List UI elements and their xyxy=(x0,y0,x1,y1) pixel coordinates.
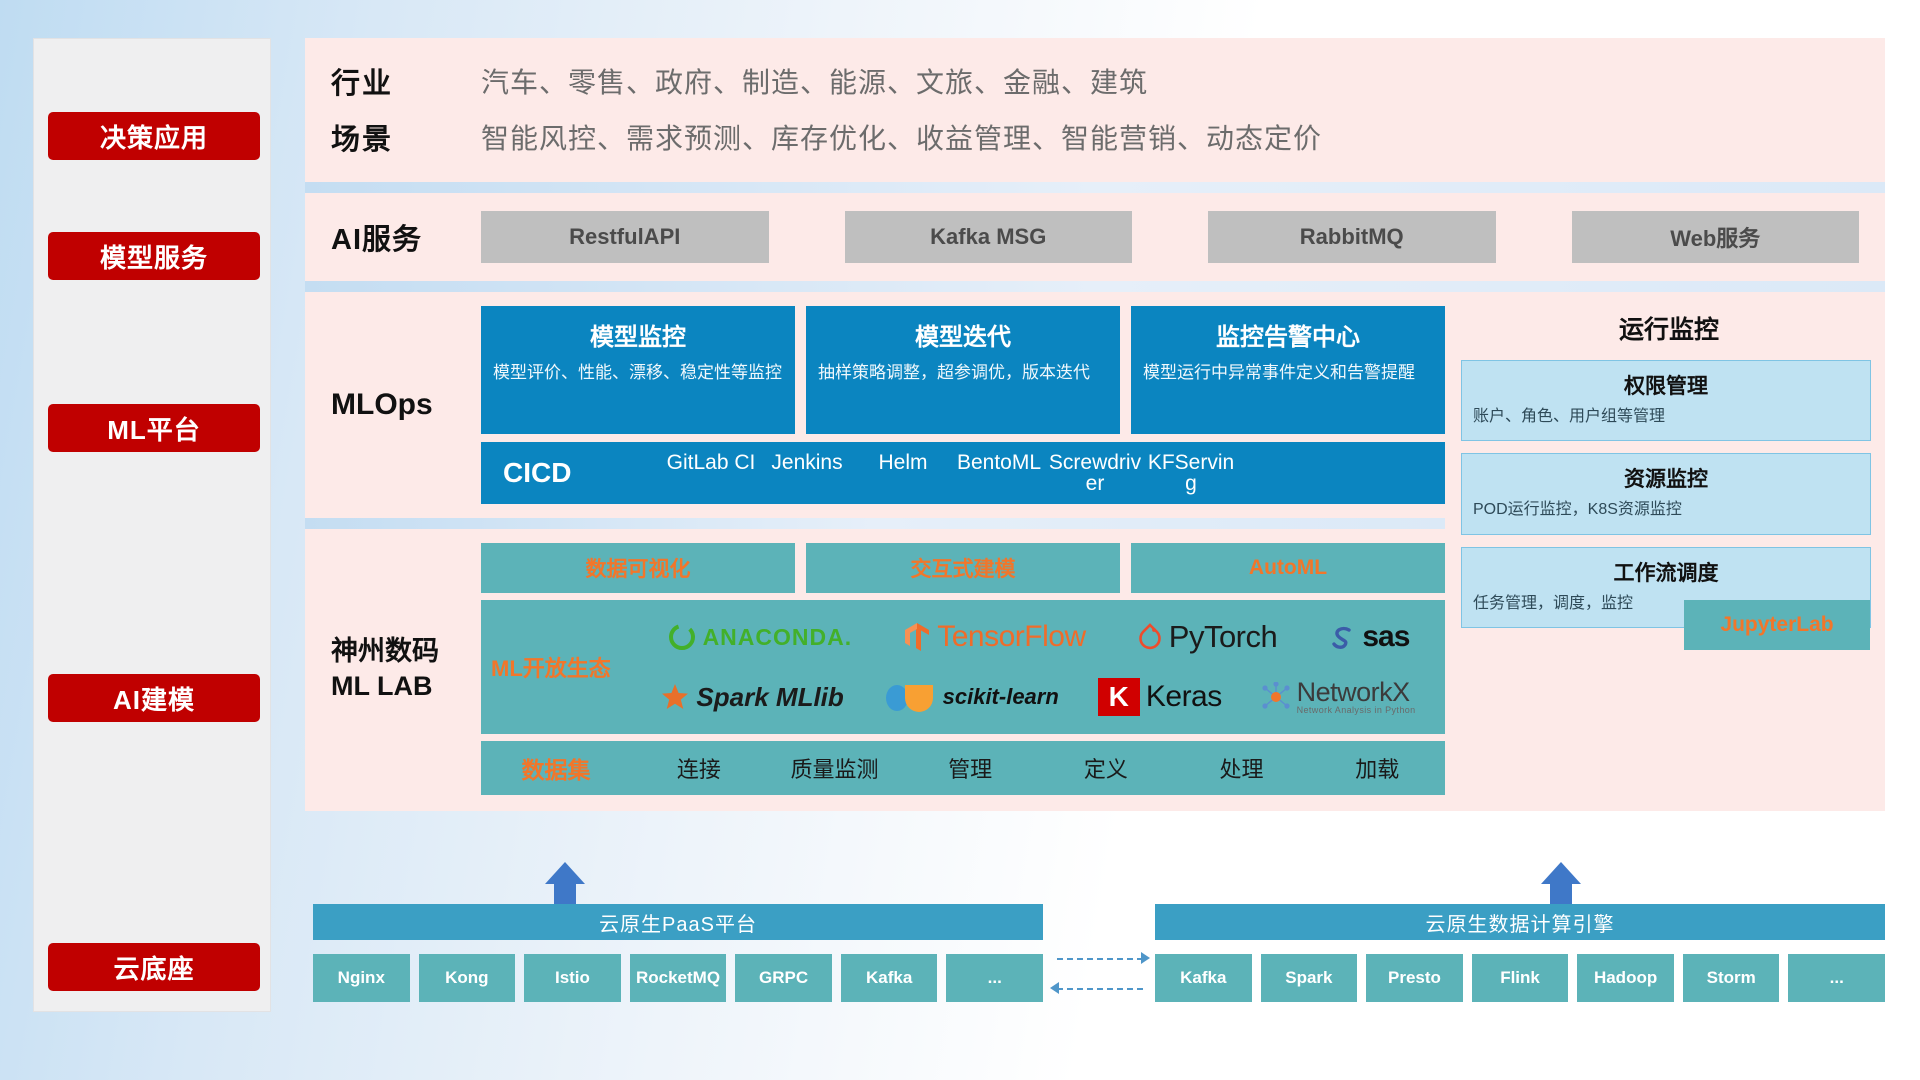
ml-lab-band: 神州数码 ML LAB 数据可视化 交互式建模 AutoML ML开放生态 xyxy=(305,529,1445,811)
dataset-label: 数据集 xyxy=(481,751,631,785)
cicd-item-helm[interactable]: Helm xyxy=(855,452,951,494)
data-engine-chip-kafka[interactable]: Kafka xyxy=(1155,954,1252,1002)
dashed-arrow-right xyxy=(1141,952,1150,964)
monitor-card-permission[interactable]: 权限管理 账户、角色、用户组等管理 xyxy=(1461,360,1871,441)
data-engine-chip-more[interactable]: ... xyxy=(1788,954,1885,1002)
networkx-logo: NetworkX Network Analysis in Python xyxy=(1261,679,1416,715)
dataset-item-management[interactable]: 管理 xyxy=(902,752,1038,784)
spark-wordmark: Spark MLlib xyxy=(696,682,843,713)
card-desc: POD运行监控，K8S资源监控 xyxy=(1473,499,1859,521)
card-desc: 模型评价、性能、漂移、稳定性等监控 xyxy=(493,361,783,386)
dataset-item-group: 连接 质量监测 管理 定义 处理 加载 xyxy=(631,752,1445,784)
dataset-bar: 数据集 连接 质量监测 管理 定义 处理 加载 xyxy=(481,741,1445,795)
pytorch-icon xyxy=(1137,622,1163,652)
ai-service-chip-kafka-msg[interactable]: Kafka MSG xyxy=(845,211,1133,263)
monitor-rail-title: 运行监控 xyxy=(1453,292,1885,360)
card-title: 工作流调度 xyxy=(1473,557,1859,587)
architecture-diagram: 决策应用 模型服务 ML平台 AI建模 云底座 行业 汽车、零售、政府、制造、能… xyxy=(0,0,1920,1080)
main-column: 行业 汽车、零售、政府、制造、能源、文旅、金融、建筑 场景 智能风控、需求预测、… xyxy=(305,38,1885,811)
anaconda-wordmark: ANACONDA. xyxy=(703,624,853,651)
dataset-item-connect[interactable]: 连接 xyxy=(631,752,767,784)
anaconda-icon xyxy=(667,622,697,652)
dataset-item-processing[interactable]: 处理 xyxy=(1174,752,1310,784)
cloud-infrastructure-band: 云原生PaaS平台 Nginx Kong Istio RocketMQ GRPC… xyxy=(305,862,1885,1020)
ai-service-chip-rabbitmq[interactable]: RabbitMQ xyxy=(1208,211,1496,263)
platform-left: MLOps 模型监控 模型评价、性能、漂移、稳定性等监控 模型迭代 抽样策略调整… xyxy=(305,292,1445,811)
data-engine-chip-storm[interactable]: Storm xyxy=(1683,954,1780,1002)
cicd-item-jenkins[interactable]: Jenkins xyxy=(759,452,855,494)
mlops-card-group: 模型监控 模型评价、性能、漂移、稳定性等监控 模型迭代 抽样策略调整，超参调优，… xyxy=(481,306,1445,434)
cicd-bar: CICD GitLab CI Jenkins Helm BentoML Scre… xyxy=(481,442,1445,504)
keras-logo: K Keras xyxy=(1098,678,1222,716)
dataset-item-definition[interactable]: 定义 xyxy=(1038,752,1174,784)
paas-chip-rocketmq[interactable]: RocketMQ xyxy=(630,954,727,1002)
card-title: 资源监控 xyxy=(1473,463,1859,493)
lab-tool-interactive-modeling[interactable]: 交互式建模 xyxy=(806,543,1120,593)
pytorch-logo: PyTorch xyxy=(1137,619,1277,655)
data-engine-chip-hadoop[interactable]: Hadoop xyxy=(1577,954,1674,1002)
band-separator xyxy=(305,182,1885,193)
dashed-connector-left xyxy=(1057,988,1143,990)
tensorflow-icon xyxy=(903,621,931,653)
scikit-learn-icon xyxy=(883,680,937,714)
card-title: 模型监控 xyxy=(493,317,783,352)
ml-lab-tool-group: 数据可视化 交互式建模 AutoML xyxy=(481,543,1445,593)
paas-column: 云原生PaaS平台 Nginx Kong Istio RocketMQ GRPC… xyxy=(313,904,1043,1002)
paas-title: 云原生PaaS平台 xyxy=(313,904,1043,940)
ai-service-chip-web-service[interactable]: Web服务 xyxy=(1572,211,1860,263)
tensorflow-logo: TensorFlow xyxy=(903,620,1085,654)
ai-service-chip-restfulapi[interactable]: RestfulAPI xyxy=(481,211,769,263)
cicd-item-kfserving[interactable]: KFServing xyxy=(1143,452,1239,494)
cicd-item-screwdriver[interactable]: Screwdriver xyxy=(1047,452,1143,494)
keras-icon: K xyxy=(1098,678,1140,716)
ai-service-label: AI服务 xyxy=(331,216,481,258)
ml-lab-label: 神州数码 ML LAB xyxy=(331,543,481,795)
mlops-card-model-monitoring[interactable]: 模型监控 模型评价、性能、漂移、稳定性等监控 xyxy=(481,306,795,434)
card-desc: 账户、角色、用户组等管理 xyxy=(1473,406,1859,428)
scikit-learn-wordmark: scikit-learn xyxy=(943,684,1059,710)
ml-lab-label-line1: 神州数码 xyxy=(331,634,439,669)
paas-chip-more[interactable]: ... xyxy=(946,954,1043,1002)
cicd-label: CICD xyxy=(503,457,663,489)
industry-scenario-band: 行业 汽车、零售、政府、制造、能源、文旅、金融、建筑 场景 智能风控、需求预测、… xyxy=(305,38,1885,182)
platform-row: MLOps 模型监控 模型评价、性能、漂移、稳定性等监控 模型迭代 抽样策略调整… xyxy=(305,292,1885,811)
paas-chip-istio[interactable]: Istio xyxy=(524,954,621,1002)
networkx-icon xyxy=(1261,682,1291,712)
ai-service-chip-group: RestfulAPI Kafka MSG RabbitMQ Web服务 xyxy=(481,211,1859,263)
industry-row: 行业 汽车、零售、政府、制造、能源、文旅、金融、建筑 xyxy=(331,60,1859,102)
pytorch-wordmark: PyTorch xyxy=(1169,619,1277,655)
mlops-content: 模型监控 模型评价、性能、漂移、稳定性等监控 模型迭代 抽样策略调整，超参调优，… xyxy=(481,306,1445,504)
mlops-card-alert-center[interactable]: 监控告警中心 模型运行中异常事件定义和告警提醒 xyxy=(1131,306,1445,434)
band-separator xyxy=(305,518,1445,529)
industry-values: 汽车、零售、政府、制造、能源、文旅、金融、建筑 xyxy=(481,61,1148,101)
scenario-label: 场景 xyxy=(331,116,481,158)
cicd-item-group: GitLab CI Jenkins Helm BentoML Screwdriv… xyxy=(663,452,1445,494)
monitor-rail: 运行监控 权限管理 账户、角色、用户组等管理 资源监控 POD运行监控，K8S资… xyxy=(1445,292,1885,811)
data-engine-column: 云原生数据计算引擎 Kafka Spark Presto Flink Hadoo… xyxy=(1155,904,1885,1002)
data-engine-title: 云原生数据计算引擎 xyxy=(1155,904,1885,940)
paas-chip-group: Nginx Kong Istio RocketMQ GRPC Kafka ... xyxy=(313,954,1043,1002)
stage-chip-model-service[interactable]: 模型服务 xyxy=(48,232,260,280)
dashed-arrow-left xyxy=(1050,982,1059,994)
ai-service-band: AI服务 RestfulAPI Kafka MSG RabbitMQ Web服务 xyxy=(305,193,1885,281)
card-title: 监控告警中心 xyxy=(1143,317,1433,352)
ml-ecosystem-logos: ANACONDA. TensorFlow xyxy=(641,608,1435,726)
card-desc: 模型运行中异常事件定义和告警提醒 xyxy=(1143,361,1433,386)
anaconda-logo: ANACONDA. xyxy=(667,622,853,652)
paas-chip-grpc[interactable]: GRPC xyxy=(735,954,832,1002)
scenario-row: 场景 智能风控、需求预测、库存优化、收益管理、智能营销、动态定价 xyxy=(331,116,1859,158)
sas-icon xyxy=(1328,623,1356,651)
data-engine-chip-presto[interactable]: Presto xyxy=(1366,954,1463,1002)
keras-wordmark: Keras xyxy=(1146,680,1222,714)
data-engine-chip-spark[interactable]: Spark xyxy=(1261,954,1358,1002)
sas-logo: sas xyxy=(1328,620,1409,654)
dashed-connector-right xyxy=(1057,958,1143,960)
mlops-label: MLOps xyxy=(331,306,481,504)
stage-rail xyxy=(33,38,271,1012)
card-desc: 抽样策略调整，超参调优，版本迭代 xyxy=(818,361,1108,386)
paas-chip-kafka[interactable]: Kafka xyxy=(841,954,938,1002)
stage-chip-decision-app[interactable]: 决策应用 xyxy=(48,112,260,160)
ml-ecosystem-label: ML开放生态 xyxy=(491,651,641,683)
logo-row-1: ANACONDA. TensorFlow xyxy=(641,608,1435,666)
networkx-wordmark: NetworkX xyxy=(1297,679,1416,706)
scikit-learn-logo: scikit-learn xyxy=(883,680,1059,714)
spark-star-icon xyxy=(660,682,690,712)
paas-chip-kong[interactable]: Kong xyxy=(419,954,516,1002)
mlops-band: MLOps 模型监控 模型评价、性能、漂移、稳定性等监控 模型迭代 抽样策略调整… xyxy=(305,292,1445,518)
ml-ecosystem-panel: ML开放生态 ANACONDA. xyxy=(481,600,1445,734)
stage-chip-ml-platform[interactable]: ML平台 xyxy=(48,404,260,452)
cicd-item-gitlab-ci[interactable]: GitLab CI xyxy=(663,452,759,494)
logo-row-2: Spark MLlib scikit-learn xyxy=(641,668,1435,726)
dataset-item-quality-monitoring[interactable]: 质量监测 xyxy=(767,752,903,784)
data-engine-chip-flink[interactable]: Flink xyxy=(1472,954,1569,1002)
stage-chip-ai-modeling[interactable]: AI建模 xyxy=(48,674,260,722)
paas-chip-nginx[interactable]: Nginx xyxy=(313,954,410,1002)
spark-mllib-logo: Spark MLlib xyxy=(660,682,843,713)
sas-wordmark: sas xyxy=(1362,620,1409,654)
card-title: 模型迭代 xyxy=(818,317,1108,352)
cicd-item-bentoml[interactable]: BentoML xyxy=(951,452,1047,494)
card-title: 权限管理 xyxy=(1473,370,1859,400)
scenario-values: 智能风控、需求预测、库存优化、收益管理、智能营销、动态定价 xyxy=(481,117,1322,157)
stage-chip-cloud-base[interactable]: 云底座 xyxy=(48,943,260,991)
tensorflow-wordmark: TensorFlow xyxy=(937,620,1085,654)
lab-tool-data-visualization[interactable]: 数据可视化 xyxy=(481,543,795,593)
data-engine-chip-group: Kafka Spark Presto Flink Hadoop Storm ..… xyxy=(1155,954,1885,1002)
band-separator xyxy=(305,281,1885,292)
lab-tool-jupyterlab[interactable]: JupyterLab xyxy=(1684,600,1870,650)
mlops-card-model-iteration[interactable]: 模型迭代 抽样策略调整，超参调优，版本迭代 xyxy=(806,306,1120,434)
ml-lab-label-line2: ML LAB xyxy=(331,669,439,704)
lab-tool-automl[interactable]: AutoML xyxy=(1131,543,1445,593)
networkx-tagline: Network Analysis in Python xyxy=(1297,706,1416,715)
industry-label: 行业 xyxy=(331,60,481,102)
ml-lab-content: 数据可视化 交互式建模 AutoML ML开放生态 xyxy=(481,543,1445,795)
dataset-item-loading[interactable]: 加载 xyxy=(1309,752,1445,784)
monitor-card-resource[interactable]: 资源监控 POD运行监控，K8S资源监控 xyxy=(1461,453,1871,534)
